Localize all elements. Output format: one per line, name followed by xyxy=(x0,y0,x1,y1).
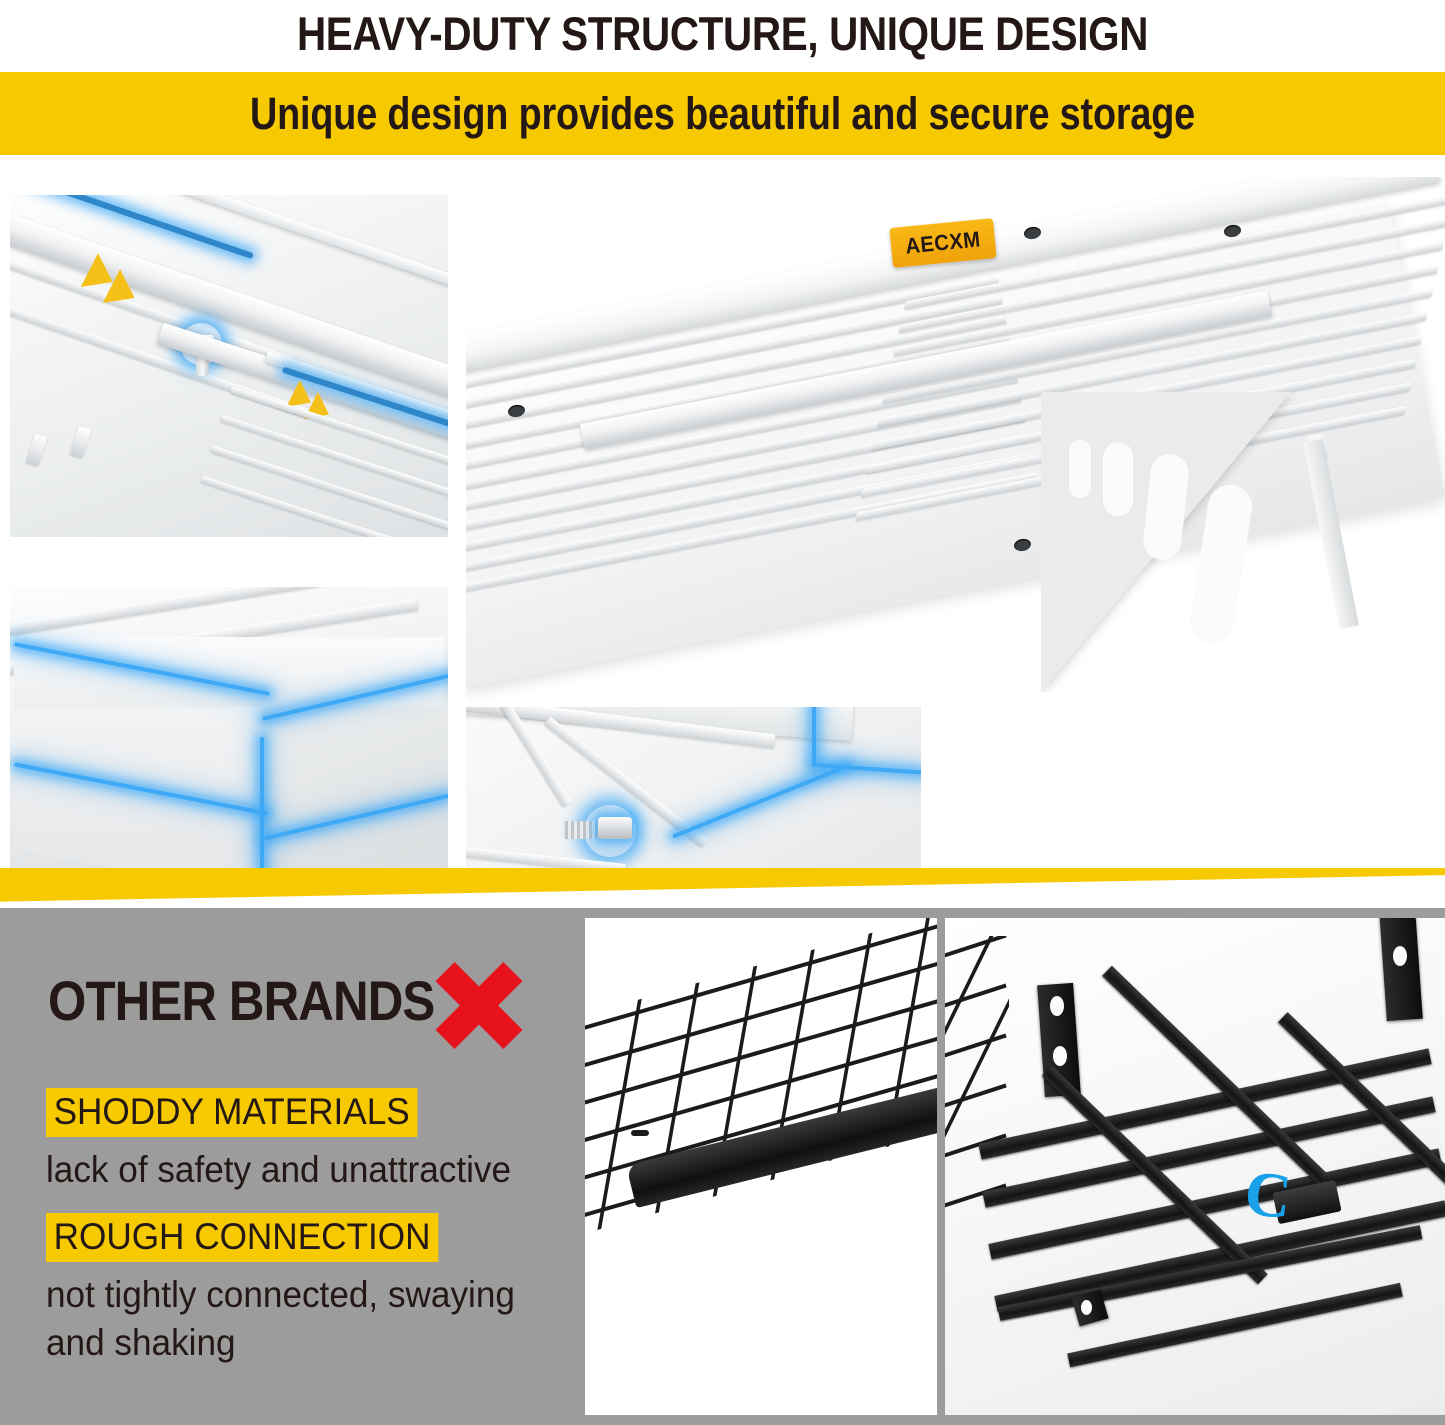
bracket-mounting-hole xyxy=(1050,996,1064,1016)
feature-photo-region: Sliding Rail xyxy=(0,155,1445,895)
drawback-item: SHODDY MATERIALS lack of safety and unat… xyxy=(46,1088,536,1191)
box-top-face xyxy=(14,637,444,707)
panel-corner-glow xyxy=(10,587,448,877)
cross-icon xyxy=(428,962,530,1048)
bracket-mounting-hole xyxy=(1393,946,1407,966)
page-title: HEAVY-DUTY STRUCTURE, UNIQUE DESIGN xyxy=(101,2,1344,64)
annotation-c-icon: C xyxy=(1241,1156,1295,1234)
drawback-item: ROUGH CONNECTION not tightly connected, … xyxy=(46,1213,540,1364)
rack-bar xyxy=(982,1096,1435,1207)
photo-black-rack-frame: C xyxy=(945,918,1445,1415)
photo-black-wire-mesh-shelf xyxy=(585,918,937,1415)
other-brands-heading: OTHER BRANDS xyxy=(48,968,434,1033)
drawback-highlight: SHODDY MATERIALS xyxy=(46,1088,417,1137)
bracket-mounting-hole xyxy=(1081,1300,1092,1315)
divider-bar xyxy=(0,868,1445,902)
infographic-stage: HEAVY-DUTY STRUCTURE, UNIQUE DESIGN Uniq… xyxy=(0,0,1445,1425)
panel-main-product: AECXM xyxy=(466,177,1445,707)
bracket-mounting-hole xyxy=(1053,1046,1067,1066)
other-brands-section: OTHER BRANDS SHODDY MATERIALS lack of sa… xyxy=(0,908,1445,1425)
bolt-thread xyxy=(562,821,600,839)
edge-glow xyxy=(260,737,264,877)
brand-logo-text: AECXM xyxy=(904,226,982,259)
page-subtitle: Unique design provides beautiful and sec… xyxy=(250,88,1195,140)
drawback-description: not tightly connected, swaying xyxy=(46,1274,515,1316)
support-bracket xyxy=(1041,392,1341,692)
drawback-highlight: ROUGH CONNECTION xyxy=(46,1213,438,1262)
adjacent-mesh-sliver xyxy=(945,936,1009,1266)
panel-sliding-rail: Sliding Rail xyxy=(10,195,448,537)
header-subtitle-band: Unique design provides beautiful and sec… xyxy=(0,72,1445,155)
bolt-head xyxy=(598,817,632,839)
wall-bracket xyxy=(1379,918,1423,1021)
bracket-pin xyxy=(631,1130,649,1136)
drawback-description-line2: and shaking xyxy=(46,1322,515,1364)
drawback-description: lack of safety and unattractive xyxy=(46,1149,511,1191)
